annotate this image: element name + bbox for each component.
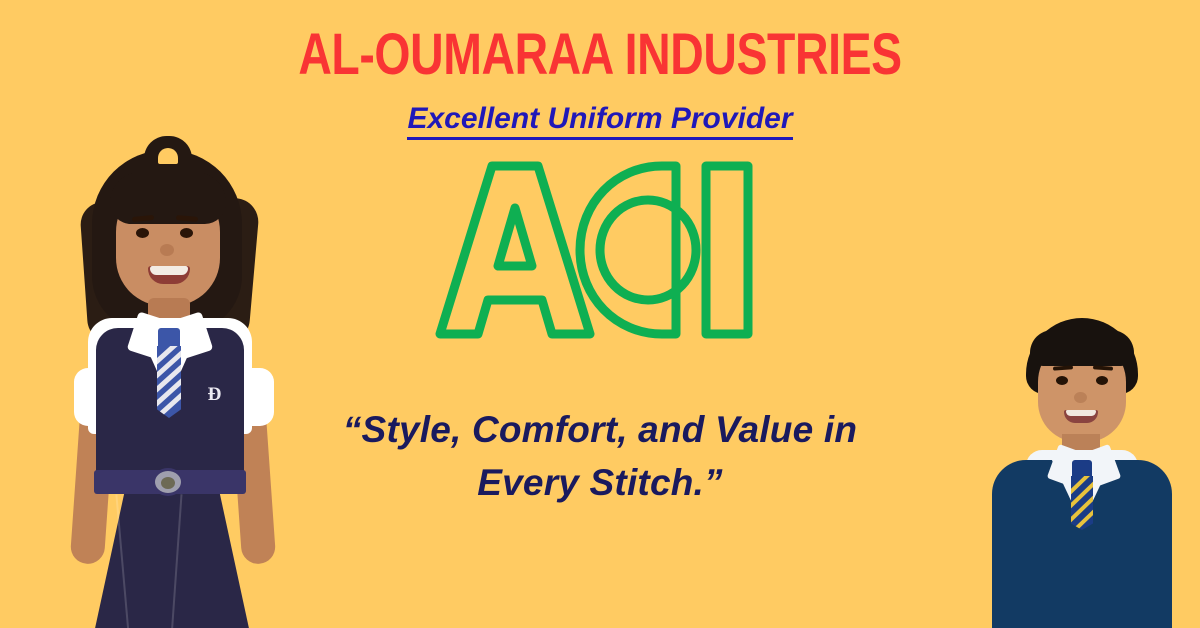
girl-fringe (110, 172, 226, 224)
boy-eye-right (1096, 376, 1108, 385)
logo-letter-a (440, 166, 590, 334)
company-subtitle-text: Excellent Uniform Provider (407, 102, 792, 140)
promotional-banner: AL-OUMARAA INDUSTRIES Excellent Uniform … (0, 0, 1200, 628)
boy-eye-left (1056, 376, 1068, 385)
tagline-line-2: Every Stitch.” (250, 457, 950, 510)
tagline: “Style, Comfort, and Value in Every Stit… (250, 404, 950, 509)
boy-tie (1071, 476, 1093, 530)
girl-eye-left (136, 228, 149, 238)
girl-nose (160, 244, 174, 256)
tagline-line-1: “Style, Comfort, and Value in (343, 409, 857, 450)
boy-nose (1074, 392, 1087, 403)
schoolboy-photo (960, 312, 1200, 628)
girl-eye-right (180, 228, 193, 238)
schoolgirl-photo: Đ (40, 132, 310, 628)
logo-letter-i (706, 166, 748, 334)
boy-teeth (1066, 410, 1096, 416)
girl-tie (157, 346, 181, 418)
logo-letter-o (580, 166, 696, 334)
girl-teeth (150, 266, 188, 275)
girl-buckle-center (161, 477, 175, 489)
boy-fringe (1030, 330, 1134, 366)
company-subtitle: Excellent Uniform Provider (0, 104, 1200, 134)
girl-uniform-emblem: Đ (202, 382, 224, 408)
company-title: AL-OUMARAA INDUSTRIES (120, 26, 1080, 84)
girl-topknot-gap (158, 148, 178, 164)
aoi-logo-svg (430, 160, 770, 340)
